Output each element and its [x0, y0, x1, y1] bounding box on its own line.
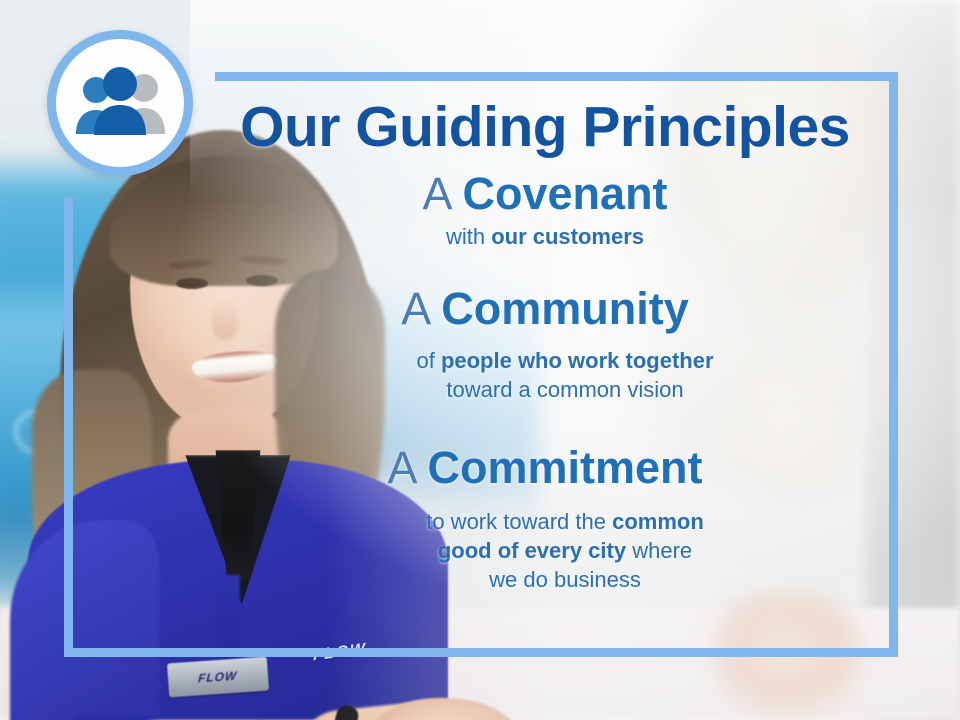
principle-headline: A Commitment: [200, 444, 890, 493]
subtext-line: we do business: [240, 565, 890, 594]
subtext-part-bold: good of every city: [438, 538, 626, 563]
subtext-line: of people who work together: [240, 346, 890, 375]
subtext-part-bold: our customers: [491, 224, 644, 249]
principle-keyword: Covenant: [463, 168, 668, 219]
principle-headline: A Community: [200, 285, 890, 334]
subtext-line: to work toward the common: [240, 507, 890, 536]
principle-article: A: [422, 168, 450, 219]
people-group-icon: [68, 65, 172, 141]
principle-subtext: to work toward the common good of every …: [200, 507, 890, 594]
name-badge-text: FLOW: [198, 669, 238, 686]
subtext-part: with: [446, 224, 491, 249]
frame-border-top: [215, 72, 898, 81]
subtext-part: where: [626, 538, 692, 563]
subtext-part-bold: people who work together: [441, 348, 714, 373]
principle-subtext: with our customers: [200, 222, 890, 251]
principle-commitment: A Commitment to work toward the common g…: [200, 444, 890, 594]
subtext-part: of: [416, 348, 440, 373]
subtext-line: good of every city where: [240, 536, 890, 565]
principle-keyword: Community: [441, 283, 689, 334]
principle-covenant: A Covenant with our customers: [200, 170, 890, 252]
frame-border-left: [64, 197, 73, 657]
frame-border-right: [889, 72, 898, 657]
people-group-medallion: [47, 30, 193, 176]
principle-subtext: of people who work together toward a com…: [200, 346, 890, 404]
subtext-line: toward a common vision: [240, 375, 890, 404]
principle-community: A Community of people who work together …: [200, 285, 890, 404]
name-badge: FLOW: [167, 657, 269, 698]
principle-article: A: [387, 442, 415, 493]
principle-headline: A Covenant: [200, 170, 890, 219]
principle-article: A: [401, 283, 429, 334]
subtext-part-bold: common: [612, 509, 704, 534]
frame-border-bottom: [64, 648, 898, 657]
principle-keyword: Commitment: [428, 442, 703, 493]
subtext-part: to work toward the: [426, 509, 612, 534]
guiding-principles-poster: FLOW FLOW: [0, 0, 960, 720]
principles-content: Our Guiding Principles A Covenant with o…: [200, 82, 890, 642]
page-title: Our Guiding Principles: [200, 98, 890, 158]
